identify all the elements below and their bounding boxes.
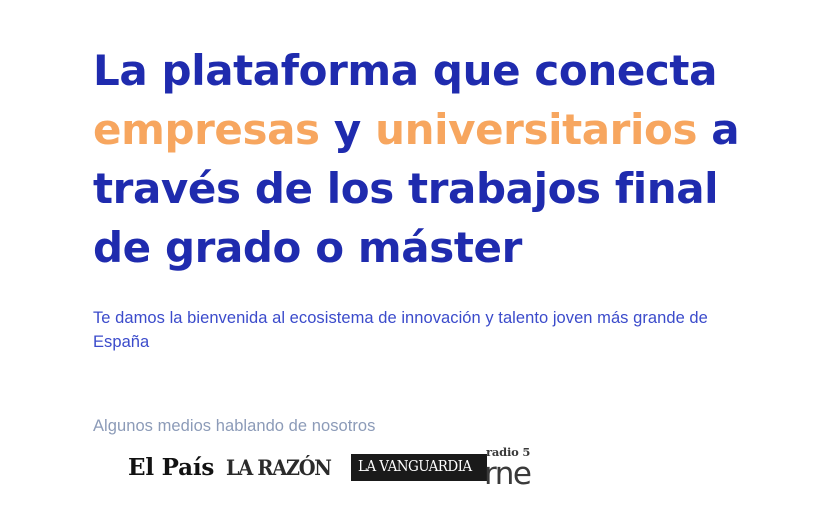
media-logo-strip: El País LA RAZÓN LA VANGUARDIA radio 5 r… (128, 443, 688, 491)
hero-subtitle: Te damos la bienvenida al ecosistema de … (93, 277, 753, 354)
media-kicker-label: Algunos medios hablando de nosotros (93, 354, 773, 437)
logo-rne-text: rne (484, 459, 530, 489)
logo-la-razon: LA RAZÓN (226, 443, 351, 491)
headline-segment-1: La plataforma que conecta (93, 46, 717, 95)
logo-la-vanguardia: LA VANGUARDIA (351, 443, 484, 491)
headline-segment-3: y (320, 105, 375, 154)
logo-la-vanguardia-box: LA VANGUARDIA (351, 454, 487, 481)
headline-accent-empresas: empresas (93, 105, 320, 154)
landing-hero-page: La plataforma que conecta empresas y uni… (0, 0, 836, 514)
logo-la-vanguardia-text: LA VANGUARDIA (358, 460, 472, 475)
page-title: La plataforma que conecta empresas y uni… (93, 41, 765, 277)
logo-la-razon-text: LA RAZÓN (226, 457, 331, 478)
headline-accent-universitarios: universitarios (375, 105, 697, 154)
logo-el-pais: El País (128, 443, 226, 491)
logo-rne-radio-5: radio 5 rne (484, 443, 574, 491)
logo-el-pais-text: El País (128, 456, 214, 479)
hero-content: La plataforma que conecta empresas y uni… (93, 41, 773, 437)
